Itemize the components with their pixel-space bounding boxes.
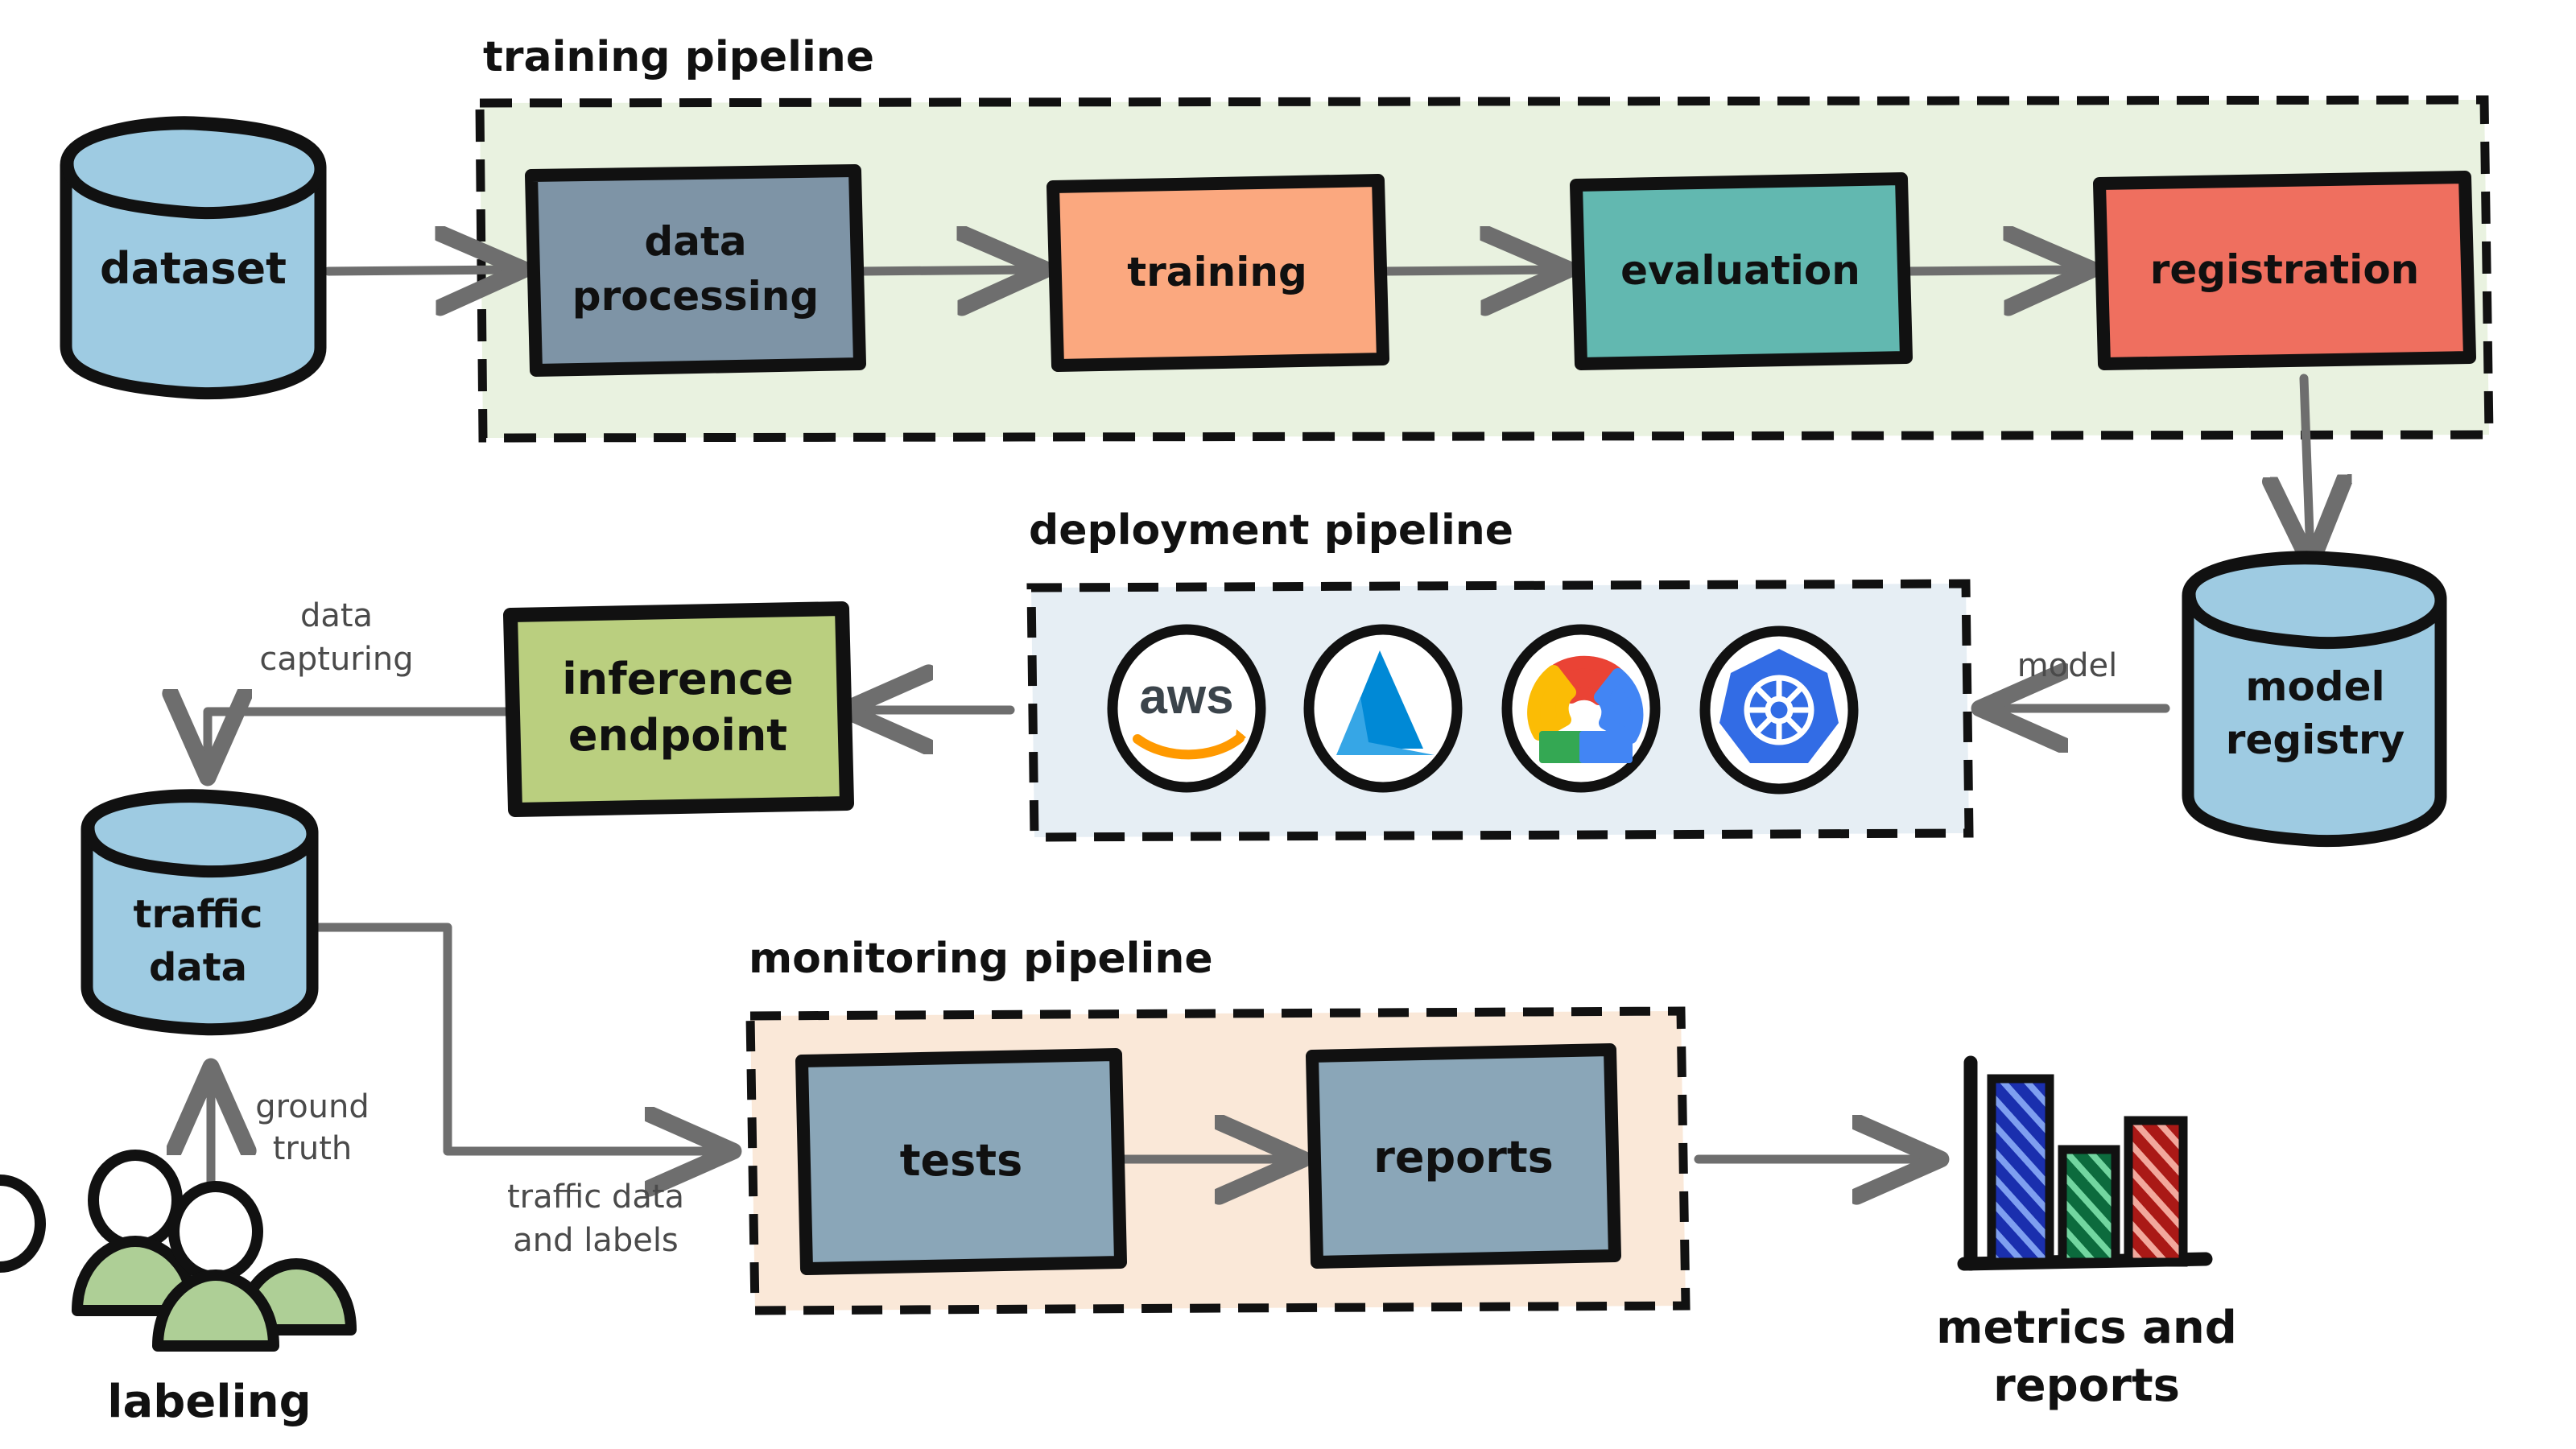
dataset-label: dataset <box>100 243 287 294</box>
model-registry-label-line1: model <box>2245 663 2384 710</box>
diagram-canvas: dataset data processing training evaluat… <box>0 0 2576 1449</box>
data-processing-label-line2: processing <box>572 273 819 320</box>
data-capturing-line2: capturing <box>259 641 413 678</box>
training-step-evaluation[interactable]: evaluation <box>1576 179 1906 364</box>
reports-label: reports <box>1373 1132 1554 1183</box>
traffic-labels-line2: and labels <box>513 1222 679 1259</box>
chart-bar-3 <box>2128 1121 2183 1262</box>
edge-label-data-capturing: data capturing <box>259 597 413 678</box>
traffic-labels-line1: traffic data <box>507 1179 684 1216</box>
traffic-data-label-line1: traffic <box>134 892 263 937</box>
edge-label-ground-truth: ground truth <box>255 1088 369 1167</box>
evaluation-label: evaluation <box>1620 247 1860 294</box>
ground-truth-line2: truth <box>273 1130 353 1167</box>
registration-label: registration <box>2150 246 2420 293</box>
metrics-label-line2: reports <box>1993 1360 2180 1412</box>
arrow-traffic-data-to-monitoring <box>316 927 724 1151</box>
data-capturing-line1: data <box>300 597 373 634</box>
azure-icon[interactable] <box>1309 630 1457 787</box>
inference-endpoint-label-line1: inference <box>562 654 793 704</box>
training-step-training[interactable]: training <box>1053 180 1383 365</box>
model-registry-label-line2: registry <box>2226 716 2405 763</box>
edge-label-model: model <box>2017 647 2118 684</box>
svg-text:aws: aws <box>1139 669 1233 724</box>
training-label: training <box>1127 249 1307 295</box>
chart-bar-1 <box>1992 1079 2050 1262</box>
training-pipeline-title: training pipeline <box>483 33 874 81</box>
chart-bar-2 <box>2062 1150 2116 1262</box>
cylinder-dataset[interactable]: dataset <box>66 122 320 394</box>
training-step-registration[interactable]: registration <box>2099 177 2470 364</box>
cylinder-model-registry[interactable]: model registry <box>2188 557 2441 841</box>
box-inference-endpoint[interactable]: inference endpoint <box>510 609 847 810</box>
data-processing-label-line1: data <box>644 218 746 265</box>
traffic-data-label-line2: data <box>149 945 247 990</box>
arrow-training-to-evaluation <box>1383 270 1560 271</box>
labeling-label: labeling <box>107 1376 311 1428</box>
training-step-data-processing[interactable]: data processing <box>531 171 860 370</box>
monitoring-step-tests[interactable]: tests <box>802 1055 1121 1269</box>
arrow-data-processing-to-training <box>860 270 1037 271</box>
arrow-evaluation-to-registration <box>1906 270 2083 271</box>
ground-truth-line1: ground <box>255 1088 369 1125</box>
aws-icon[interactable]: aws <box>1113 630 1261 787</box>
arrow-inference-endpoint-to-traffic-data <box>208 712 507 769</box>
deployment-pipeline-title: deployment pipeline <box>1029 506 1513 555</box>
kubernetes-icon[interactable] <box>1705 631 1853 789</box>
inference-endpoint-label-line2: endpoint <box>568 710 787 761</box>
tests-label: tests <box>900 1135 1023 1186</box>
labeling-people-icon[interactable]: labeling <box>0 1155 351 1428</box>
metrics-bar-chart[interactable]: metrics and reports <box>1936 1063 2237 1412</box>
arrow-dataset-to-data-processing <box>328 270 515 271</box>
edge-label-traffic-data-and-labels: traffic data and labels <box>507 1179 684 1259</box>
metrics-label-line1: metrics and <box>1936 1302 2237 1354</box>
cylinder-traffic-data[interactable]: traffic data <box>87 795 312 1030</box>
monitoring-pipeline-title: monitoring pipeline <box>749 935 1213 983</box>
monitoring-step-reports[interactable]: reports <box>1312 1050 1615 1262</box>
google-cloud-icon[interactable] <box>1507 630 1655 787</box>
